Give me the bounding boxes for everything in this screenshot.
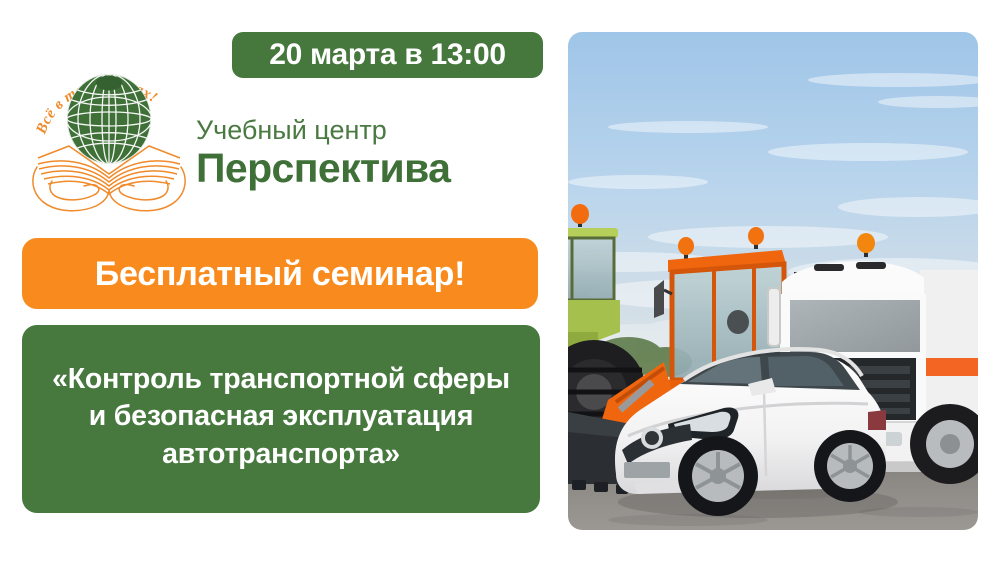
vehicles-photo <box>568 32 978 530</box>
date-badge-label: 20 марта в 13:00 <box>269 40 506 70</box>
date-badge: 20 марта в 13:00 <box>232 32 543 78</box>
seminar-topic-title: «Контроль транспортной сферы и безопасна… <box>48 361 514 472</box>
brand-title: Перспектива <box>196 146 536 190</box>
free-seminar-banner: Бесплатный семинар! <box>22 238 538 309</box>
globe-in-hands-logo-icon: Всё в твоих руках! <box>24 50 194 215</box>
free-seminar-label: Бесплатный семинар! <box>95 257 466 291</box>
brand-name: Учебный центр Перспектива <box>196 116 536 190</box>
brand-subtitle: Учебный центр <box>196 116 536 145</box>
seminar-topic-card: «Контроль транспортной сферы и безопасна… <box>22 325 540 513</box>
promo-banner: 20 марта в 13:00 Всё в твоих руках! <box>0 0 1000 562</box>
